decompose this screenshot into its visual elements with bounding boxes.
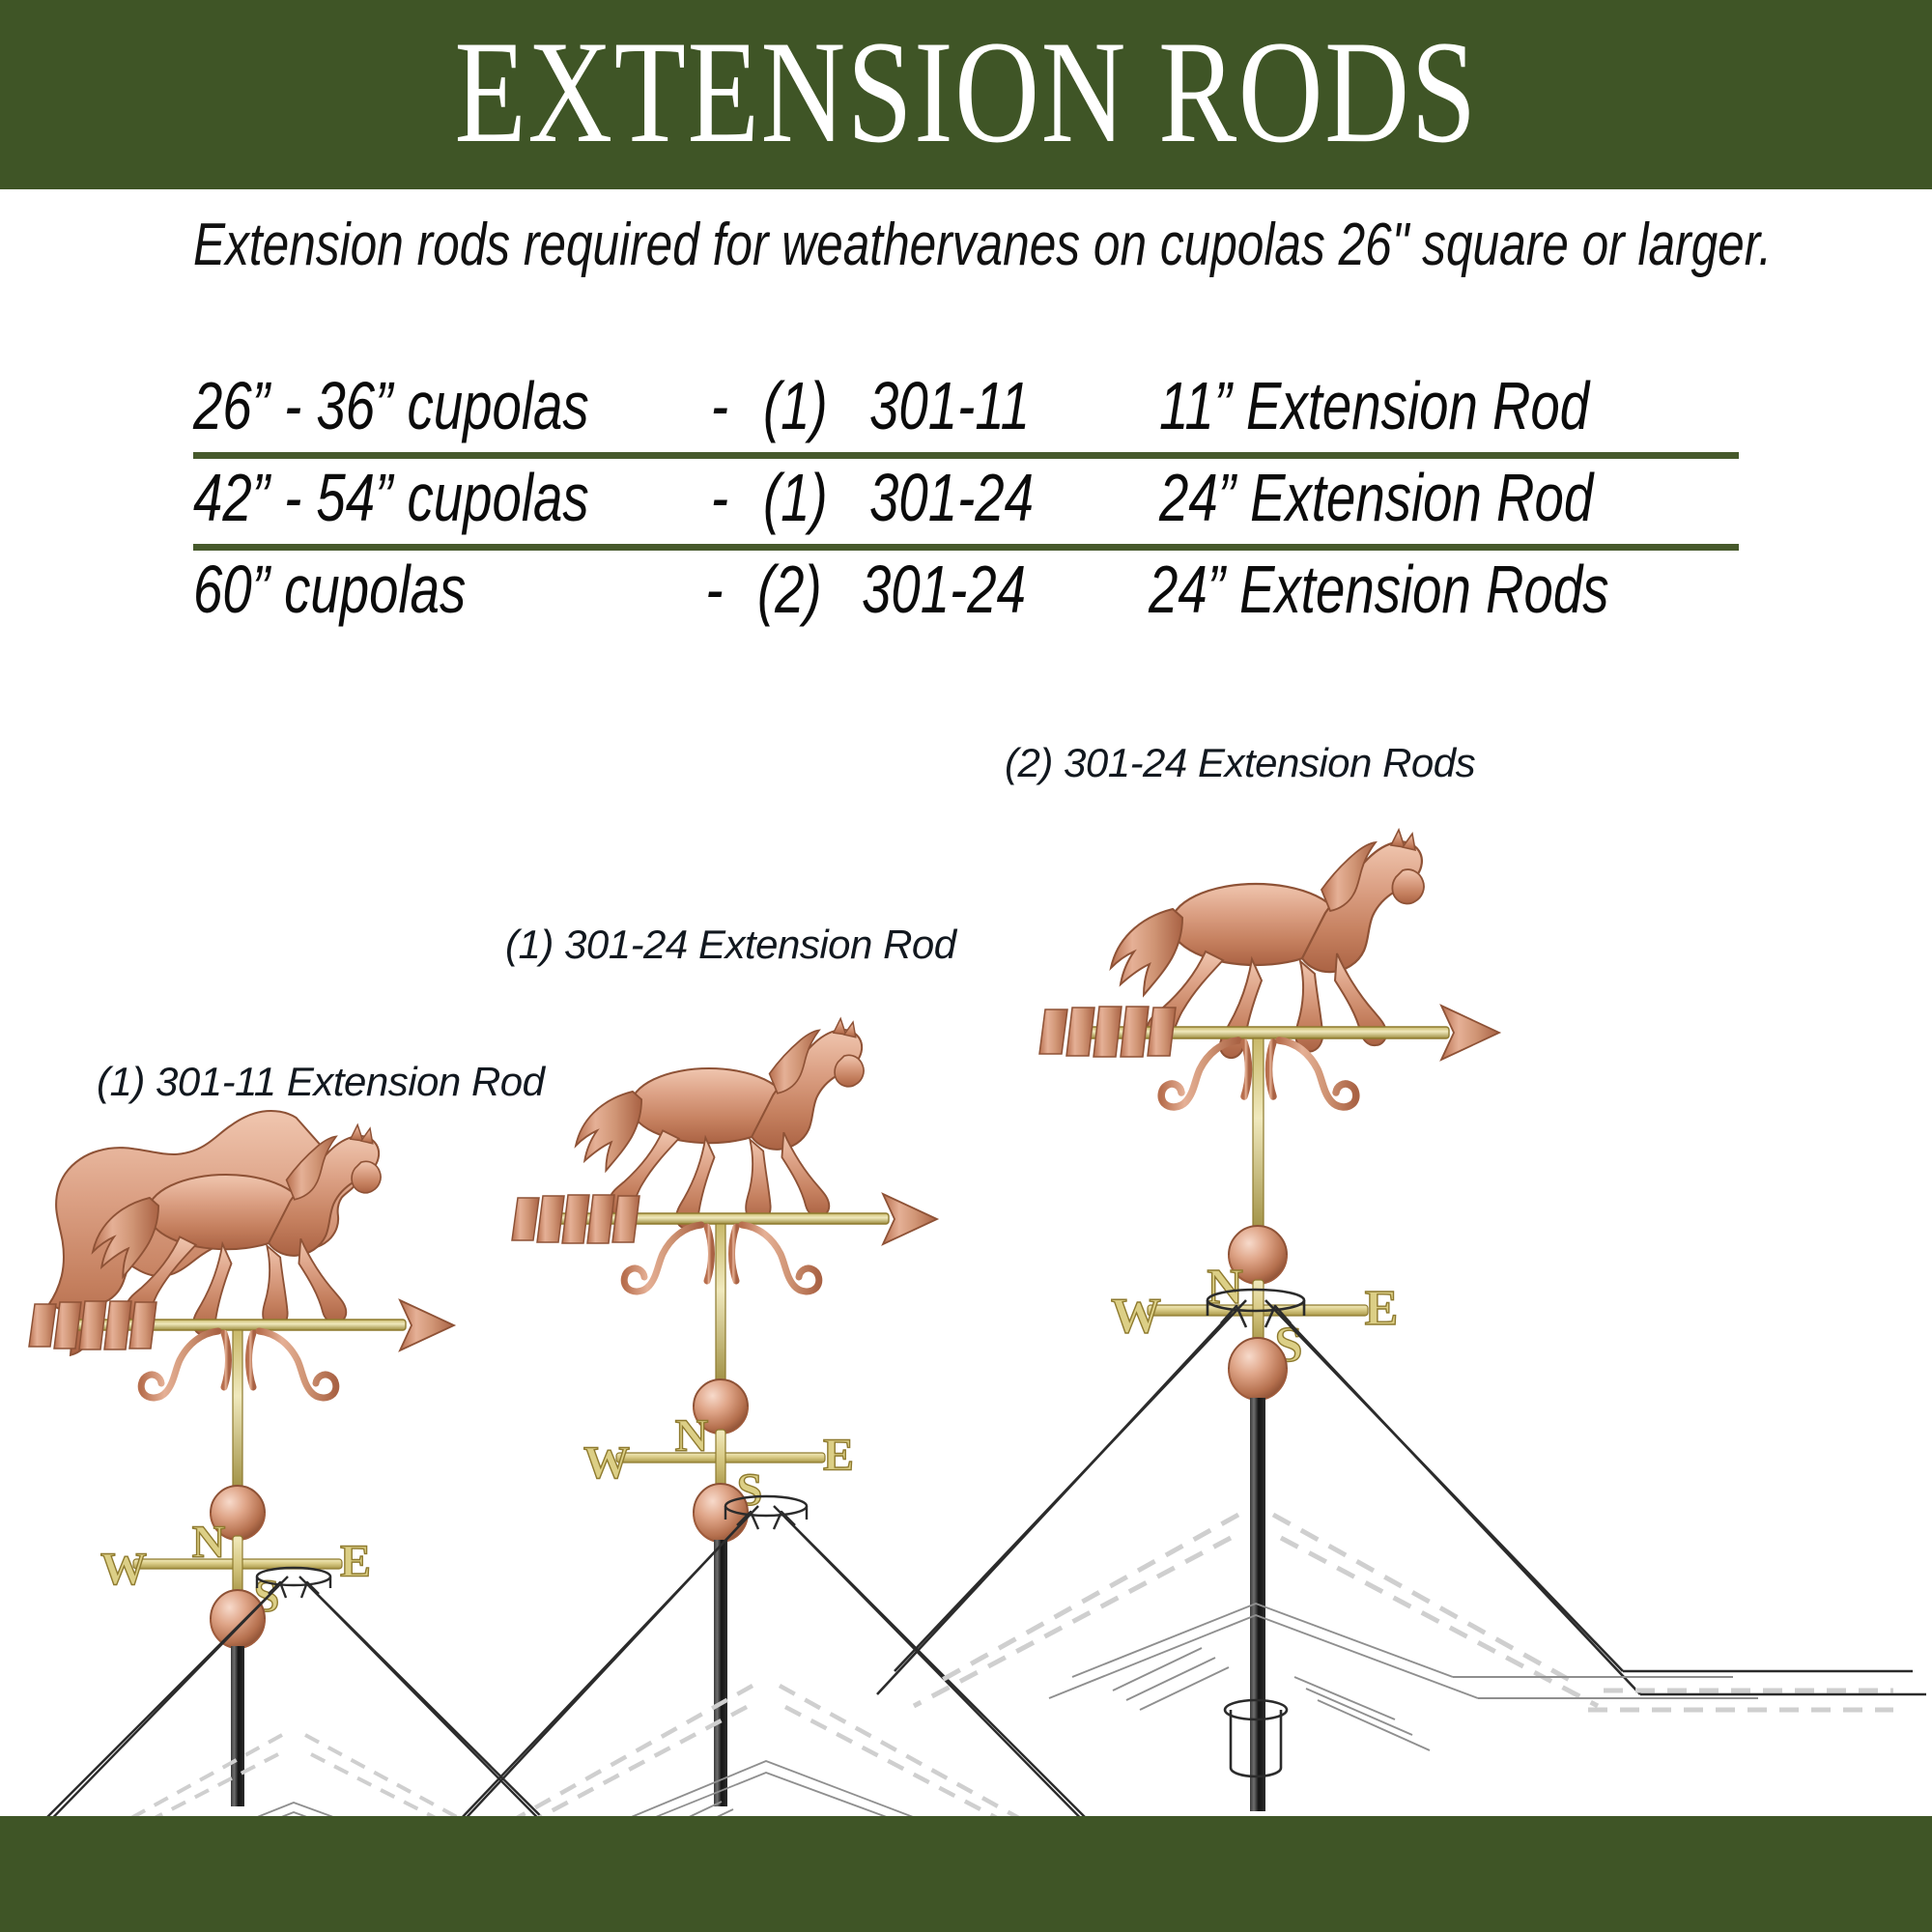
row-dash: - bbox=[686, 459, 753, 536]
rod-part-number: 301-24 bbox=[869, 459, 1095, 536]
page-title: EXTENSION RODS bbox=[454, 18, 1477, 165]
table-row: 26” - 36” cupolas - (1) 301-11 11” Exten… bbox=[193, 367, 1739, 452]
rod-description: 24” Extension Rod bbox=[1159, 459, 1611, 536]
compass-east-letter: E bbox=[823, 1430, 854, 1481]
table-divider bbox=[193, 452, 1739, 459]
arrow-head-icon bbox=[400, 1300, 454, 1350]
diagram-callout-301-11: (1) 301-11 Extension Rod bbox=[97, 1059, 545, 1105]
cupola-size: 26” - 36” cupolas bbox=[193, 367, 570, 444]
arrow-fletching-icon bbox=[1039, 1007, 1176, 1057]
arrow-head-icon bbox=[1441, 1006, 1499, 1060]
header-bar: EXTENSION RODS bbox=[0, 0, 1932, 189]
rod-description: 24” Extension Rods bbox=[1149, 551, 1609, 628]
vane-spindle bbox=[233, 1330, 242, 1494]
row-dash: - bbox=[680, 551, 747, 628]
diagram-callout-301-24-single: (1) 301-24 Extension Rod bbox=[505, 922, 956, 968]
page-root: EXTENSION RODS Extension rods required f… bbox=[0, 0, 1932, 1932]
vane-spindle bbox=[1253, 1038, 1264, 1237]
rod-quantity: (1) bbox=[763, 459, 846, 536]
arrow-fletching-icon bbox=[29, 1301, 156, 1350]
compass-north-letter: N bbox=[675, 1410, 709, 1462]
footer-bar bbox=[0, 1816, 1932, 1932]
arrow-fletching-icon bbox=[512, 1195, 639, 1243]
vane-spindle bbox=[716, 1224, 725, 1388]
diagram-callout-301-24-double: (2) 301-24 Extension Rods bbox=[1005, 740, 1475, 786]
rod-part-number: 301-11 bbox=[869, 367, 1095, 444]
cupola-roof-outline-3 bbox=[869, 1285, 1932, 1826]
table-row: 60” cupolas - (2) 301-24 24” Extension R… bbox=[193, 551, 1739, 636]
table-row: 42” - 54” cupolas - (1) 301-24 24” Exten… bbox=[193, 459, 1739, 544]
subtitle-text: Extension rods required for weathervanes… bbox=[193, 211, 1739, 279]
cupola-size: 42” - 54” cupolas bbox=[193, 459, 570, 536]
rod-part-number: 301-24 bbox=[862, 551, 1085, 628]
table-divider bbox=[193, 544, 1739, 551]
arrow-head-icon bbox=[883, 1194, 937, 1244]
spec-table: 26” - 36” cupolas - (1) 301-11 11” Exten… bbox=[193, 367, 1739, 636]
rod-quantity: (1) bbox=[763, 367, 846, 444]
row-dash: - bbox=[686, 367, 753, 444]
rod-quantity: (2) bbox=[757, 551, 839, 628]
rod-description: 11” Extension Rod bbox=[1159, 367, 1611, 444]
compass-north-letter: N bbox=[192, 1517, 226, 1568]
compass-west-letter: W bbox=[583, 1437, 630, 1489]
cupola-size: 60” cupolas bbox=[193, 551, 566, 628]
